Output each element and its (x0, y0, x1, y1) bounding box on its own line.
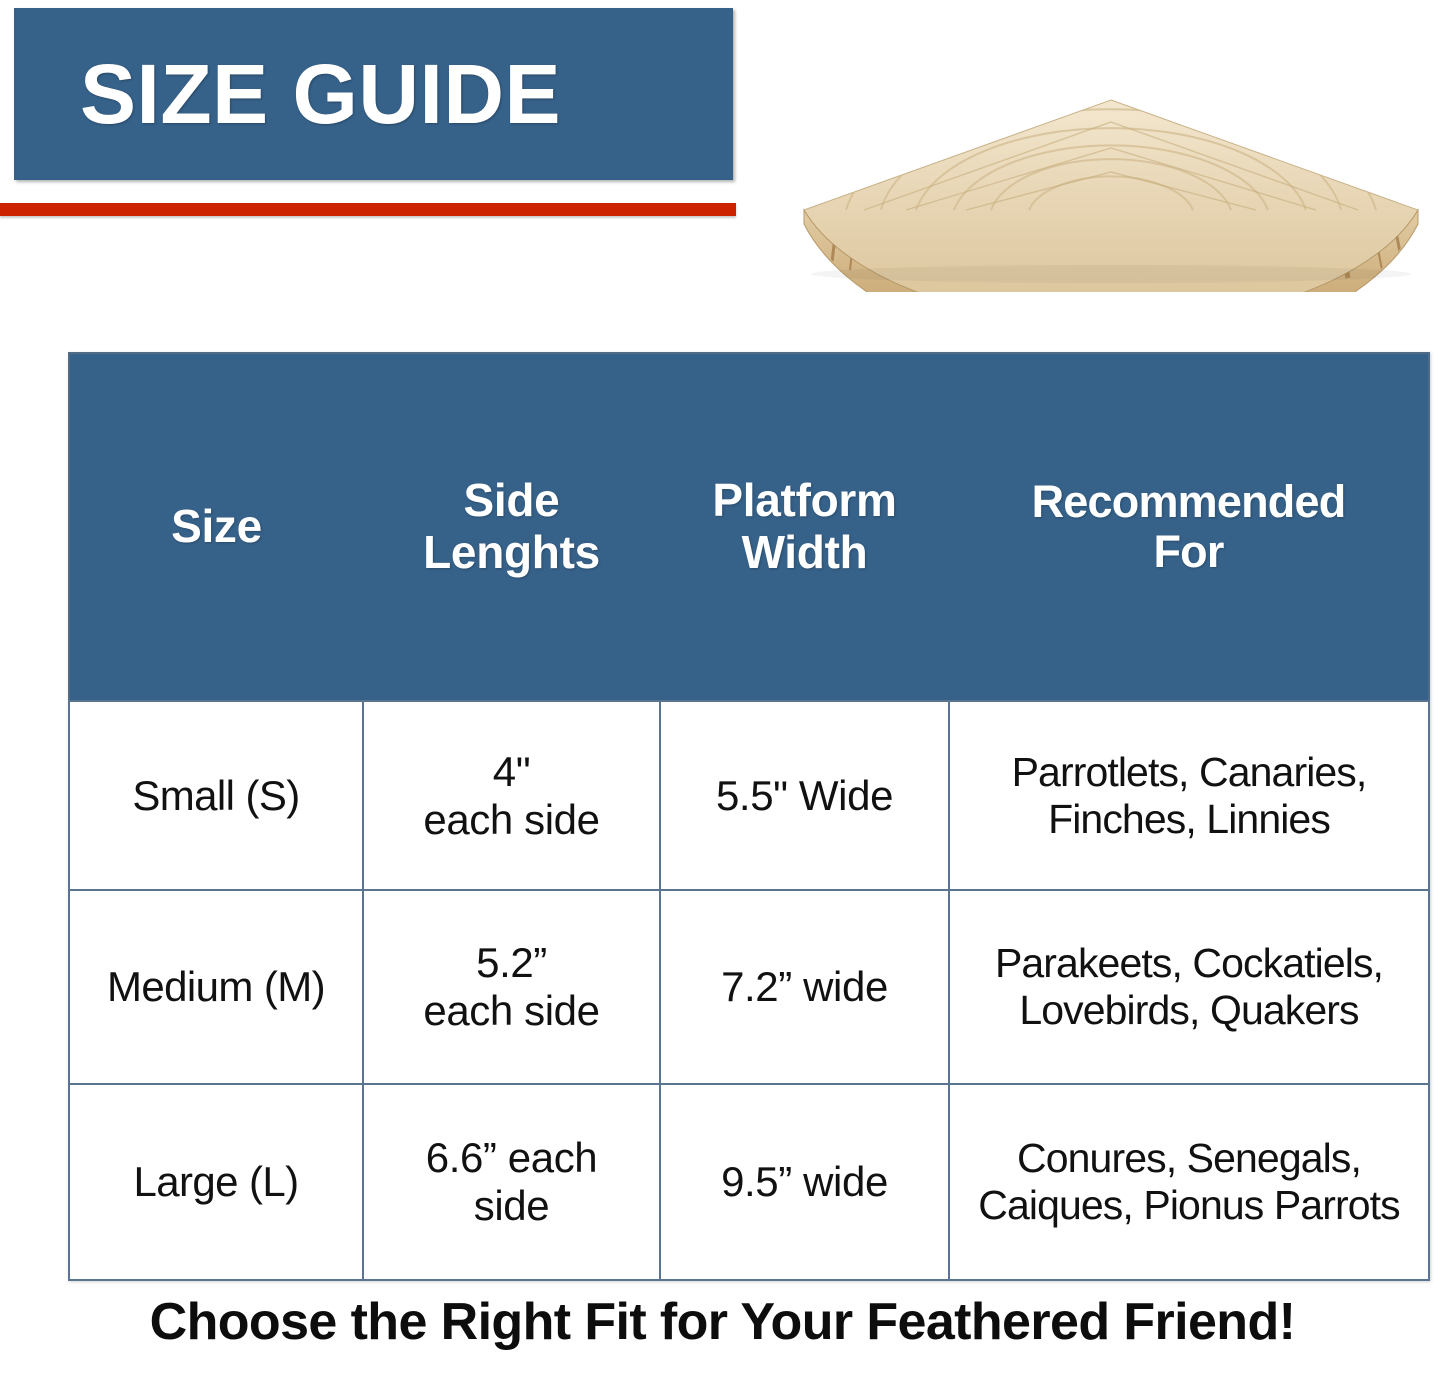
column-header-size: Size (69, 353, 363, 701)
cell-recommended-large-line-1: Conures, Senegals, (958, 1135, 1420, 1182)
page-title: SIZE GUIDE (80, 52, 561, 136)
cell-size-medium: Medium (M) (69, 890, 363, 1084)
column-header-side-lengths: Side Lenghts (363, 353, 660, 701)
cell-recommended-medium: Parakeets, Cockatiels, Lovebirds, Quaker… (949, 890, 1429, 1084)
table-row: Medium (M) 5.2” each side 7.2” wide Para… (69, 890, 1429, 1084)
column-header-recommended-for-line-2: For (955, 527, 1422, 577)
cell-platform-width-small: 5.5" Wide (660, 701, 949, 890)
column-header-side-lengths-line-1: Side (369, 475, 654, 527)
column-header-platform-width-line-1: Platform (666, 475, 943, 527)
cell-recommended-large-line-2: Caiques, Pionus Parrots (958, 1182, 1420, 1229)
table-body: Small (S) 4" each side 5.5" Wide Parrotl… (69, 701, 1429, 1280)
cell-platform-width-large: 9.5” wide (660, 1084, 949, 1280)
footer-tagline: Choose the Right Fit for Your Feathered … (0, 1292, 1445, 1352)
column-header-side-lengths-line-2: Lenghts (369, 527, 654, 579)
cell-recommended-small: Parrotlets, Canaries, Finches, Linnies (949, 701, 1429, 890)
cell-side-lengths-small-line-2: each side (372, 796, 651, 844)
cell-side-lengths-large: 6.6” each side (363, 1084, 660, 1280)
column-header-size-line-1: Size (76, 501, 357, 553)
column-header-platform-width-line-2: Width (666, 527, 943, 579)
cell-size-small: Small (S) (69, 701, 363, 890)
table-row: Large (L) 6.6” each side 9.5” wide Conur… (69, 1084, 1429, 1280)
cell-recommended-small-line-1: Parrotlets, Canaries, (958, 749, 1420, 796)
cell-side-lengths-large-line-2: side (372, 1182, 651, 1230)
size-guide-banner: SIZE GUIDE (14, 8, 733, 180)
cell-side-lengths-small: 4" each side (363, 701, 660, 890)
table-header-row: Size Side Lenghts Platform Width Recomme… (69, 353, 1429, 701)
column-header-recommended-for: Recommended For (949, 353, 1429, 701)
cell-side-lengths-large-line-1: 6.6” each (372, 1134, 651, 1182)
column-header-platform-width: Platform Width (660, 353, 949, 701)
size-guide-table: Size Side Lenghts Platform Width Recomme… (68, 352, 1430, 1281)
cell-side-lengths-medium-line-1: 5.2” (372, 939, 651, 987)
table-row: Small (S) 4" each side 5.5" Wide Parrotl… (69, 701, 1429, 890)
cell-recommended-medium-line-2: Lovebirds, Quakers (958, 987, 1420, 1034)
column-header-recommended-for-line-1: Recommended (955, 477, 1422, 527)
corner-shelf-product-image (786, 62, 1436, 292)
cell-platform-width-medium: 7.2” wide (660, 890, 949, 1084)
corner-shelf-illustration (786, 62, 1436, 292)
cell-side-lengths-medium: 5.2” each side (363, 890, 660, 1084)
cell-recommended-small-line-2: Finches, Linnies (958, 796, 1420, 843)
accent-rule-divider (0, 203, 736, 216)
cell-recommended-large: Conures, Senegals, Caiques, Pionus Parro… (949, 1084, 1429, 1280)
cell-recommended-medium-line-1: Parakeets, Cockatiels, (958, 940, 1420, 987)
cell-side-lengths-medium-line-2: each side (372, 987, 651, 1035)
table-header: Size Side Lenghts Platform Width Recomme… (69, 353, 1429, 701)
cell-size-large: Large (L) (69, 1084, 363, 1280)
cell-side-lengths-small-line-1: 4" (372, 748, 651, 796)
